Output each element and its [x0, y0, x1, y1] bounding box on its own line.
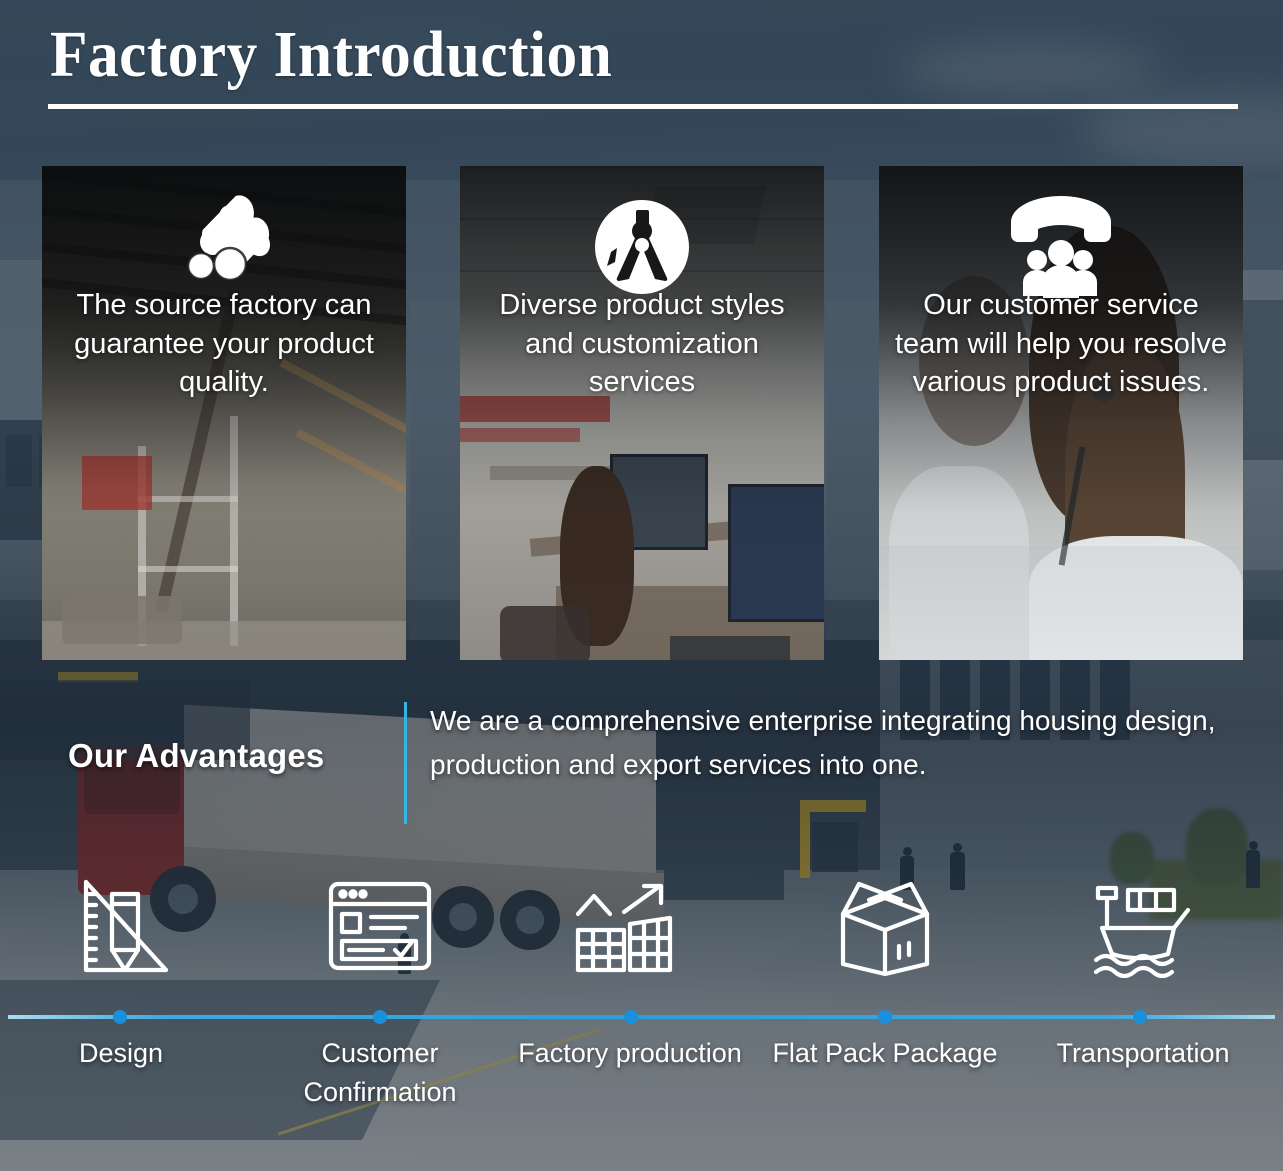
card-text: Diverse product styles and customization…	[474, 286, 810, 402]
advantages-divider	[404, 702, 407, 824]
feature-card[interactable]: The source factory can guarantee your pr…	[42, 166, 406, 660]
feature-card[interactable]: Our customer service team will help you …	[879, 166, 1243, 660]
advantages-title: Our Advantages	[68, 737, 378, 775]
timeline-dot[interactable]	[373, 1010, 387, 1024]
open-box-icon	[760, 866, 1010, 986]
process-step-label: Transportation	[1018, 1034, 1268, 1073]
form-checkbox-icon	[255, 866, 505, 986]
timeline-dot[interactable]	[1133, 1010, 1147, 1024]
timeline-line	[8, 1015, 1275, 1019]
timeline-dot[interactable]	[878, 1010, 892, 1024]
factory-growth-icon	[505, 866, 755, 986]
timeline-track	[8, 1011, 1275, 1023]
card-text: The source factory can guarantee your pr…	[56, 286, 392, 402]
timeline-dot[interactable]	[624, 1010, 638, 1024]
process-step-label: Customer Confirmation	[255, 1034, 505, 1112]
card-text: Our customer service team will help you …	[893, 286, 1229, 402]
advantages-section: Our Advantages We are a comprehensive en…	[0, 690, 1283, 840]
process-step-flat-pack-package[interactable]: Flat Pack Package	[760, 866, 1010, 986]
process-timeline: Design	[0, 866, 1283, 1171]
process-step-transportation[interactable]: Transportation	[1018, 866, 1268, 986]
process-step-label: Factory production	[505, 1034, 755, 1073]
advantages-body: We are a comprehensive enterprise integr…	[430, 699, 1220, 787]
process-step-design[interactable]: Design	[0, 866, 246, 986]
ruler-pencil-icon	[0, 866, 246, 986]
process-step-customer-confirmation[interactable]: Customer Confirmation	[255, 866, 505, 986]
process-step-factory-production[interactable]: Factory production	[505, 866, 755, 986]
feature-card[interactable]: Diverse product styles and customization…	[460, 166, 824, 660]
process-step-label: Flat Pack Package	[760, 1034, 1010, 1073]
timeline-dot[interactable]	[113, 1010, 127, 1024]
cargo-ship-icon	[1018, 866, 1268, 986]
factory-introduction-page: Factory Introduction	[0, 0, 1283, 1171]
process-step-label: Design	[0, 1034, 246, 1073]
